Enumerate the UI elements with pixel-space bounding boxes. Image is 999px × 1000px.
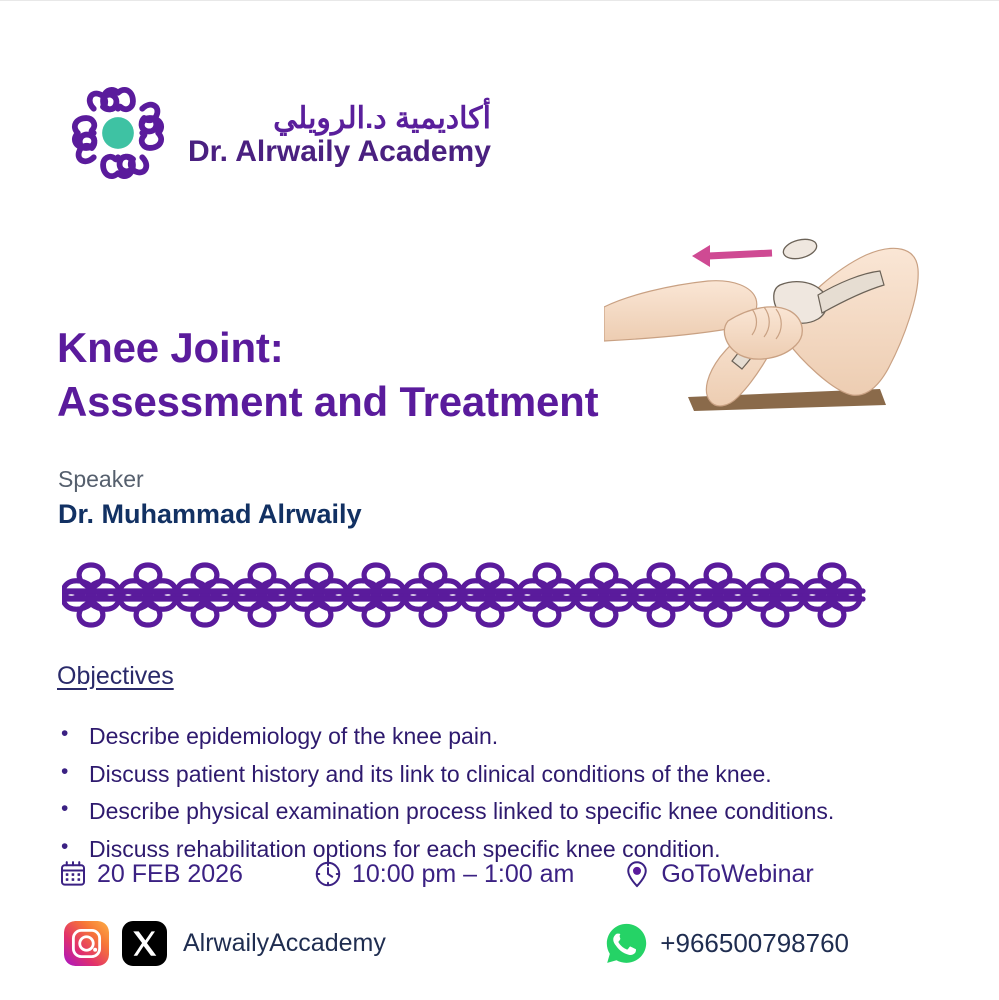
bullet-icon: • <box>61 795 68 823</box>
social-handles: AlrwailyAccademy <box>64 921 386 966</box>
location-pin-icon <box>622 859 652 889</box>
speaker-label: Speaker <box>58 465 362 494</box>
objective-text: Describe epidemiology of the knee pain. <box>89 723 498 749</box>
logo-center-dot <box>102 117 134 149</box>
ornamental-knot-divider <box>62 553 877 637</box>
event-date: 20 FEB 2026 <box>58 859 243 889</box>
event-meta-row: 20 FEB 2026 10:00 pm – 1:00 am GoToWebin… <box>58 859 858 889</box>
objective-text: Describe physical examination process li… <box>89 798 834 824</box>
knee-anterior-drawer-test-illustration <box>604 229 952 429</box>
event-platform: GoToWebinar <box>622 859 813 889</box>
direction-arrow <box>692 245 772 267</box>
event-platform-text: GoToWebinar <box>661 860 813 889</box>
objective-text: Discuss patient history and its link to … <box>89 761 772 787</box>
event-time: 10:00 pm – 1:00 am <box>313 859 574 889</box>
logo-latin-name: Dr. Alrwaily Academy <box>188 136 491 168</box>
mandala-flower-logo-icon <box>62 77 174 189</box>
patella <box>781 236 818 262</box>
objective-text: Discuss rehabilitation options for each … <box>89 836 721 862</box>
speaker-block: Speaker Dr. Muhammad Alrwaily <box>58 465 362 532</box>
instagram-icon[interactable] <box>64 921 109 966</box>
whatsapp-contact: +966500798760 <box>604 921 849 966</box>
event-date-text: 20 FEB 2026 <box>97 860 243 889</box>
objectives-list: •Describe epidemiology of the knee pain.… <box>57 721 877 871</box>
list-item: •Describe epidemiology of the knee pain. <box>57 721 877 752</box>
x-twitter-icon[interactable] <box>122 921 167 966</box>
bullet-icon: • <box>61 833 68 861</box>
speaker-name: Dr. Muhammad Alrwaily <box>58 498 362 532</box>
webinar-poster: أكاديمية د.الرويلي Dr. Alrwaily Academy … <box>0 0 999 1000</box>
list-item: •Describe physical examination process l… <box>57 796 877 827</box>
logo-wordmark: أكاديمية د.الرويلي Dr. Alrwaily Academy <box>188 103 491 168</box>
social-handle-text: AlrwailyAccademy <box>183 929 386 958</box>
logo-arabic-name: أكاديمية د.الرويلي <box>188 103 491 135</box>
list-item: •Discuss patient history and its link to… <box>57 759 877 790</box>
calendar-icon <box>58 859 88 889</box>
academy-logo: أكاديمية د.الرويلي Dr. Alrwaily Academy <box>62 77 491 189</box>
title-line-1: Knee Joint: <box>57 321 617 375</box>
whatsapp-icon[interactable] <box>604 921 649 966</box>
title-line-2: Assessment and Treatment <box>57 375 617 429</box>
whatsapp-phone-text: +966500798760 <box>660 928 849 959</box>
social-row: AlrwailyAccademy +966500798760 <box>64 921 944 966</box>
clock-icon <box>313 859 343 889</box>
event-time-text: 10:00 pm – 1:00 am <box>352 860 574 889</box>
bullet-icon: • <box>61 758 68 786</box>
bullet-icon: • <box>61 720 68 748</box>
poster-title: Knee Joint: Assessment and Treatment <box>57 321 617 429</box>
objectives-heading: Objectives <box>57 662 174 691</box>
